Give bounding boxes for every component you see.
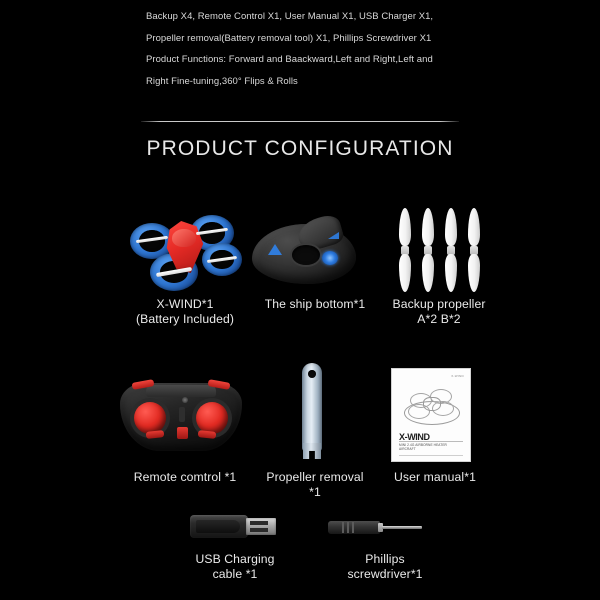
remote-joystick-left (134, 402, 166, 434)
caption-backup-propeller: Backup propeller A*2 B*2 (374, 297, 504, 326)
spec-paragraph: Backup X4, Remote Control X1, User Manua… (146, 6, 476, 92)
manual-corner-code: X-WIND (451, 374, 464, 378)
usb-charging-cable-icon (190, 512, 282, 542)
caption-drone: X-WIND*1 (Battery Included) (110, 297, 260, 326)
screwdriver-handle (328, 521, 380, 534)
remote-led (182, 397, 188, 403)
drone-canopy (172, 229, 196, 247)
backup-propeller-3 (442, 208, 460, 292)
spec-line-1: Backup X4, Remote Control X1, User Manua… (146, 6, 476, 28)
backup-propeller-1 (396, 208, 414, 292)
propeller-removal-tool-icon (300, 363, 326, 461)
caption-propeller-removal: Propeller removal *1 (250, 470, 380, 499)
remote-controller-icon (120, 375, 242, 457)
backup-propeller-4 (465, 208, 483, 292)
shell-chevron-marking (268, 244, 282, 255)
phillips-screwdriver-icon (328, 518, 424, 538)
caption-ship-bottom: The ship bottom*1 (250, 297, 380, 312)
page-title: PRODUCT CONFIGURATION (0, 137, 600, 161)
user-manual-icon: X-WIND X-WIND MINI 2.4G AIRBORNE HEATER … (392, 369, 470, 461)
tool-hang-hole (308, 370, 316, 378)
manual-line-drawing (402, 385, 460, 425)
manual-cover: X-WIND X-WIND MINI 2.4G AIRBORNE HEATER … (392, 369, 470, 461)
screwdriver-shaft (382, 526, 422, 529)
caption-remote-control: Remote comtrol *1 (115, 470, 255, 485)
usb-housing (190, 515, 248, 538)
drone-bottom-shell-icon (252, 218, 356, 290)
caption-screwdriver: Phillips screwdriver*1 (325, 552, 445, 581)
quadcopter-drone-icon (128, 203, 240, 295)
remote-joystick-right (196, 402, 228, 434)
spec-line-3: Product Functions: Forward and Baackward… (146, 49, 476, 71)
product-configuration-page: Backup X4, Remote Control X1, User Manua… (0, 0, 600, 600)
shell-emblem (322, 251, 338, 265)
shell-aperture (292, 245, 320, 265)
screwdriver-grip-ridges (342, 522, 344, 533)
remote-button-center (177, 427, 188, 439)
backup-propellers-icon (396, 208, 486, 292)
tool-fork-tip (303, 443, 321, 459)
remote-top-panel (146, 385, 216, 397)
section-divider (141, 121, 459, 122)
caption-user-manual: User manual*1 (375, 470, 495, 485)
spec-line-4: Right Fine-tuning,360° Flips & Rolls (146, 71, 476, 93)
usb-a-connector (246, 518, 276, 535)
backup-propeller-2 (419, 208, 437, 292)
manual-subtitle: MINI 2.4G AIRBORNE HEATER AIRCRAFT (399, 443, 463, 452)
spec-line-2: Propeller removal(Battery removal tool) … (146, 28, 476, 50)
remote-center-slot (179, 407, 185, 422)
caption-usb-cable: USB Charging cable *1 (175, 552, 295, 581)
